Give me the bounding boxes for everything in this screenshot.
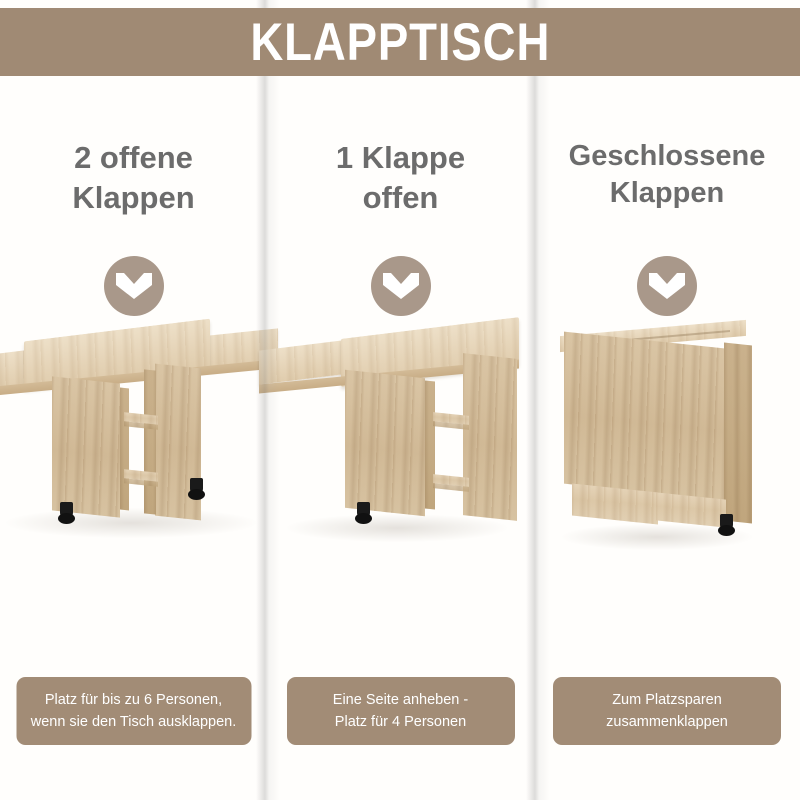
caption-line-1: Eine Seite anheben -: [333, 689, 468, 711]
caption-box: Eine Seite anheben - Platz für 4 Persone…: [287, 677, 515, 745]
column-two-leaves-open: 2 offene Klappen: [0, 76, 267, 800]
page-title: KLAPPTISCH: [250, 16, 550, 69]
heading-line-1: 1 Klappe: [336, 140, 465, 175]
chevron-badge: [371, 256, 431, 316]
caption-line-1: Zum Platzsparen: [606, 689, 728, 711]
chevron-down-icon: [383, 273, 419, 299]
column-one-leaf-open: 1 Klappe offen: [267, 76, 534, 800]
table-leg-panel-left: [52, 376, 120, 517]
caster-wheel-right: [190, 478, 203, 495]
caption-box: Platz für bis zu 6 Personen, wenn sie de…: [16, 677, 251, 745]
table-leg-panel-left-side: [120, 388, 129, 511]
caption-box: Zum Platzsparen zusammenklappen: [553, 677, 781, 745]
heading-line-1: 2 offene: [74, 140, 193, 175]
infographic-canvas: KLAPPTISCH 2 offene Klappen: [0, 0, 800, 800]
title-bar: KLAPPTISCH: [0, 8, 800, 76]
heading-line-2: Klappen: [72, 180, 194, 215]
chevron-down-icon: [116, 273, 152, 299]
column-heading: Geschlossene Klappen: [534, 138, 800, 212]
chevron-badge: [637, 256, 697, 316]
table-leg-panel-front: [345, 370, 425, 516]
heading-line-1: Geschlossene: [569, 140, 766, 172]
heading-line-2: offen: [363, 180, 439, 215]
caption-line-2: wenn sie den Tisch ausklappen.: [31, 711, 237, 733]
table-leg-panel-right-side: [144, 369, 156, 514]
caster-wheel-left: [60, 502, 73, 519]
caption-line-2: zusammenklappen: [606, 711, 728, 733]
product-image-table-folded: [534, 326, 800, 636]
column-heading: 2 offene Klappen: [0, 138, 267, 217]
product-image-table-fully-open: [0, 326, 267, 636]
product-image-table-one-leaf-open: [267, 326, 534, 636]
caster-wheel-right: [720, 514, 733, 531]
column-leaves-closed: Geschlossene Klappen: [534, 76, 800, 800]
chevron-badge: [104, 256, 164, 316]
caster-wheel-front: [357, 502, 370, 519]
column-heading: 1 Klappe offen: [267, 138, 534, 217]
table-leaf-right-folded: [463, 353, 517, 521]
comparison-columns: 2 offene Klappen: [0, 76, 800, 800]
table-folded-front-face: [564, 332, 724, 501]
caption-line-2: Platz für 4 Personen: [333, 711, 468, 733]
caption-line-1: Platz für bis zu 6 Personen,: [31, 689, 237, 711]
heading-line-2: Klappen: [610, 177, 724, 209]
chevron-down-icon: [649, 273, 685, 299]
table-folded-side-panel: [724, 343, 752, 524]
table-folded-base-skirt-2: [656, 492, 726, 527]
table-leg-panel-front-side: [425, 380, 435, 509]
